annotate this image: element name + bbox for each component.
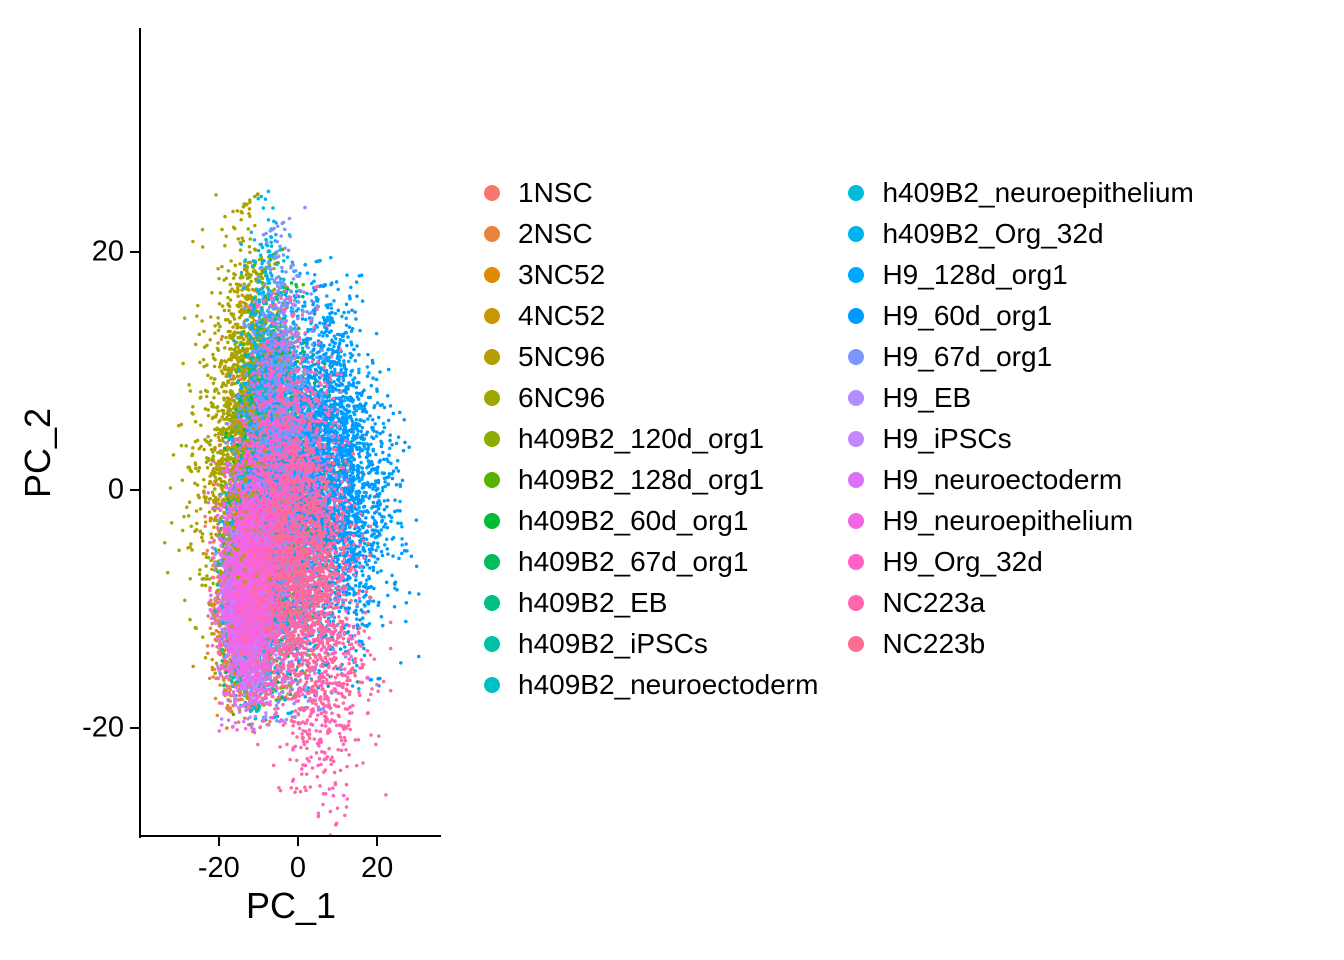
legend-item[interactable]: 1NSC xyxy=(468,172,818,213)
legend-item-label: h409B2_128d_org1 xyxy=(516,466,764,494)
legend-dot-icon xyxy=(484,185,500,201)
legend-key xyxy=(468,172,516,213)
legend-key xyxy=(468,418,516,459)
legend-dot-icon xyxy=(848,308,864,324)
legend-dot-icon xyxy=(484,390,500,406)
y-tick-mark xyxy=(130,251,139,253)
plot-panel xyxy=(141,28,441,836)
legend-column-2: h409B2_neuroepitheliumh409B2_Org_32dH9_1… xyxy=(832,172,1193,664)
legend-key xyxy=(468,541,516,582)
legend-key xyxy=(832,295,880,336)
legend-dot-icon xyxy=(848,513,864,529)
legend-dot-icon xyxy=(848,472,864,488)
legend-key xyxy=(832,541,880,582)
legend-item[interactable]: h409B2_EB xyxy=(468,582,818,623)
legend-dot-icon xyxy=(848,185,864,201)
legend-dot-icon xyxy=(484,677,500,693)
legend-item-label: H9_iPSCs xyxy=(880,425,1011,453)
legend-key xyxy=(468,213,516,254)
legend-key xyxy=(468,377,516,418)
legend-item-label: h409B2_60d_org1 xyxy=(516,507,748,535)
legend-item[interactable]: 4NC52 xyxy=(468,295,818,336)
legend-item[interactable]: 6NC96 xyxy=(468,377,818,418)
legend-key xyxy=(832,377,880,418)
x-axis-line xyxy=(139,835,441,837)
legend-key xyxy=(468,295,516,336)
legend-dot-icon xyxy=(848,390,864,406)
legend-item-label: H9_67d_org1 xyxy=(880,343,1052,371)
legend-item-label: H9_EB xyxy=(880,384,971,412)
legend-item-label: 6NC96 xyxy=(516,384,605,412)
x-tick-label: 0 xyxy=(253,852,343,885)
y-axis-title: PC_2 xyxy=(17,353,59,553)
legend-item[interactable]: H9_neuroectoderm xyxy=(832,459,1193,500)
legend-key xyxy=(468,623,516,664)
legend-item-label: h409B2_neuroepithelium xyxy=(880,179,1193,207)
legend-dot-icon xyxy=(848,349,864,365)
legend-key xyxy=(832,500,880,541)
legend-key xyxy=(468,254,516,295)
legend-item-label: 1NSC xyxy=(516,179,593,207)
legend-item-label: NC223a xyxy=(880,589,985,617)
legend-key xyxy=(468,459,516,500)
pca-scatter-figure: 200-20 -20020 PC_2 PC_1 1NSC2NSC3NC524NC… xyxy=(0,0,1344,960)
legend-item[interactable]: h409B2_neuroectoderm xyxy=(468,664,818,705)
legend: 1NSC2NSC3NC524NC525NC966NC96h409B2_120d_… xyxy=(468,172,1194,705)
legend-item[interactable]: NC223b xyxy=(832,623,1193,664)
legend-item-label: NC223b xyxy=(880,630,985,658)
legend-key xyxy=(468,500,516,541)
legend-dot-icon xyxy=(848,554,864,570)
legend-item-label: h409B2_EB xyxy=(516,589,667,617)
x-tick-label: -20 xyxy=(174,852,264,885)
legend-item[interactable]: H9_neuroepithelium xyxy=(832,500,1193,541)
legend-item[interactable]: h409B2_67d_org1 xyxy=(468,541,818,582)
legend-dot-icon xyxy=(484,226,500,242)
legend-item-label: h409B2_120d_org1 xyxy=(516,425,764,453)
legend-item-label: H9_neuroepithelium xyxy=(880,507,1133,535)
legend-item[interactable]: h409B2_neuroepithelium xyxy=(832,172,1193,213)
legend-item-label: 2NSC xyxy=(516,220,593,248)
legend-item[interactable]: 5NC96 xyxy=(468,336,818,377)
legend-item-label: 5NC96 xyxy=(516,343,605,371)
y-axis-line xyxy=(139,28,141,838)
legend-item[interactable]: H9_128d_org1 xyxy=(832,254,1193,295)
legend-item[interactable]: h409B2_120d_org1 xyxy=(468,418,818,459)
legend-dot-icon xyxy=(484,595,500,611)
y-tick-label: -20 xyxy=(14,712,124,745)
legend-column-1: 1NSC2NSC3NC524NC525NC966NC96h409B2_120d_… xyxy=(468,172,818,705)
legend-dot-icon xyxy=(484,431,500,447)
legend-key xyxy=(468,336,516,377)
legend-dot-icon xyxy=(848,267,864,283)
y-tick-mark xyxy=(130,727,139,729)
legend-dot-icon xyxy=(484,554,500,570)
legend-item-label: H9_60d_org1 xyxy=(880,302,1052,330)
legend-item-label: 3NC52 xyxy=(516,261,605,289)
x-tick-label: 20 xyxy=(332,852,422,885)
legend-item[interactable]: H9_iPSCs xyxy=(832,418,1193,459)
legend-item-label: 4NC52 xyxy=(516,302,605,330)
legend-key xyxy=(468,582,516,623)
legend-dot-icon xyxy=(848,636,864,652)
legend-item-label: H9_Org_32d xyxy=(880,548,1042,576)
legend-item[interactable]: H9_Org_32d xyxy=(832,541,1193,582)
legend-item-label: h409B2_67d_org1 xyxy=(516,548,748,576)
legend-dot-icon xyxy=(848,431,864,447)
legend-item[interactable]: 3NC52 xyxy=(468,254,818,295)
legend-key xyxy=(832,459,880,500)
legend-dot-icon xyxy=(484,308,500,324)
legend-key xyxy=(468,664,516,705)
x-axis-title: PC_1 xyxy=(141,885,441,927)
scatter-plot-canvas xyxy=(141,28,441,836)
legend-item[interactable]: H9_EB xyxy=(832,377,1193,418)
legend-item[interactable]: h409B2_60d_org1 xyxy=(468,500,818,541)
x-tick-mark xyxy=(376,837,378,846)
legend-key xyxy=(832,582,880,623)
legend-dot-icon xyxy=(484,513,500,529)
legend-item[interactable]: h409B2_iPSCs xyxy=(468,623,818,664)
legend-dot-icon xyxy=(848,226,864,242)
legend-dot-icon xyxy=(484,267,500,283)
y-tick-label: 20 xyxy=(14,236,124,269)
legend-key xyxy=(832,623,880,664)
legend-item[interactable]: NC223a xyxy=(832,582,1193,623)
x-tick-mark xyxy=(297,837,299,846)
legend-dot-icon xyxy=(484,472,500,488)
legend-item-label: h409B2_iPSCs xyxy=(516,630,708,658)
legend-key xyxy=(832,172,880,213)
legend-item[interactable]: h409B2_128d_org1 xyxy=(468,459,818,500)
legend-item[interactable]: H9_60d_org1 xyxy=(832,295,1193,336)
legend-item-label: h409B2_Org_32d xyxy=(880,220,1103,248)
legend-item[interactable]: H9_67d_org1 xyxy=(832,336,1193,377)
legend-dot-icon xyxy=(848,595,864,611)
legend-key xyxy=(832,418,880,459)
y-tick-mark xyxy=(130,489,139,491)
legend-key xyxy=(832,254,880,295)
legend-dot-icon xyxy=(484,349,500,365)
legend-item[interactable]: h409B2_Org_32d xyxy=(832,213,1193,254)
legend-key xyxy=(832,336,880,377)
legend-item-label: H9_128d_org1 xyxy=(880,261,1067,289)
legend-item-label: H9_neuroectoderm xyxy=(880,466,1122,494)
legend-item-label: h409B2_neuroectoderm xyxy=(516,671,818,699)
legend-key xyxy=(832,213,880,254)
legend-item[interactable]: 2NSC xyxy=(468,213,818,254)
legend-dot-icon xyxy=(484,636,500,652)
x-tick-mark xyxy=(218,837,220,846)
